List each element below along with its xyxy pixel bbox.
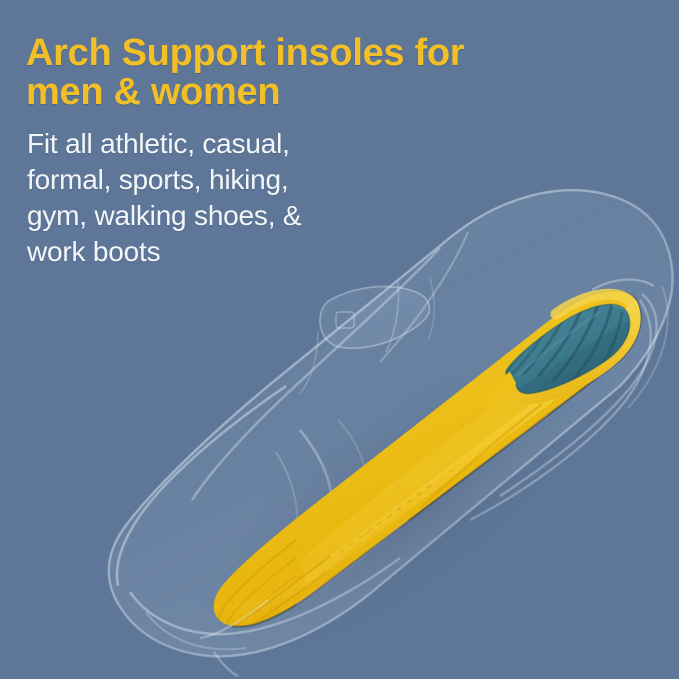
page-title: Arch Support insoles for men & women [26, 34, 566, 112]
subcopy-line-4: work boots [27, 234, 566, 270]
headline-line-2: men & women [26, 73, 566, 112]
product-feature-graphic: Arch Support insoles for men & women Fit… [0, 0, 679, 679]
subcopy-line-3: gym, walking shoes, & [27, 198, 566, 234]
subtitle-text: Fit all athletic, casual, formal, sports… [27, 126, 566, 270]
subcopy-line-2: formal, sports, hiking, [27, 162, 566, 198]
subcopy-line-1: Fit all athletic, casual, [27, 126, 566, 162]
headline-line-1: Arch Support insoles for [26, 34, 566, 73]
marketing-copy: Arch Support insoles for men & women Fit… [26, 34, 566, 270]
